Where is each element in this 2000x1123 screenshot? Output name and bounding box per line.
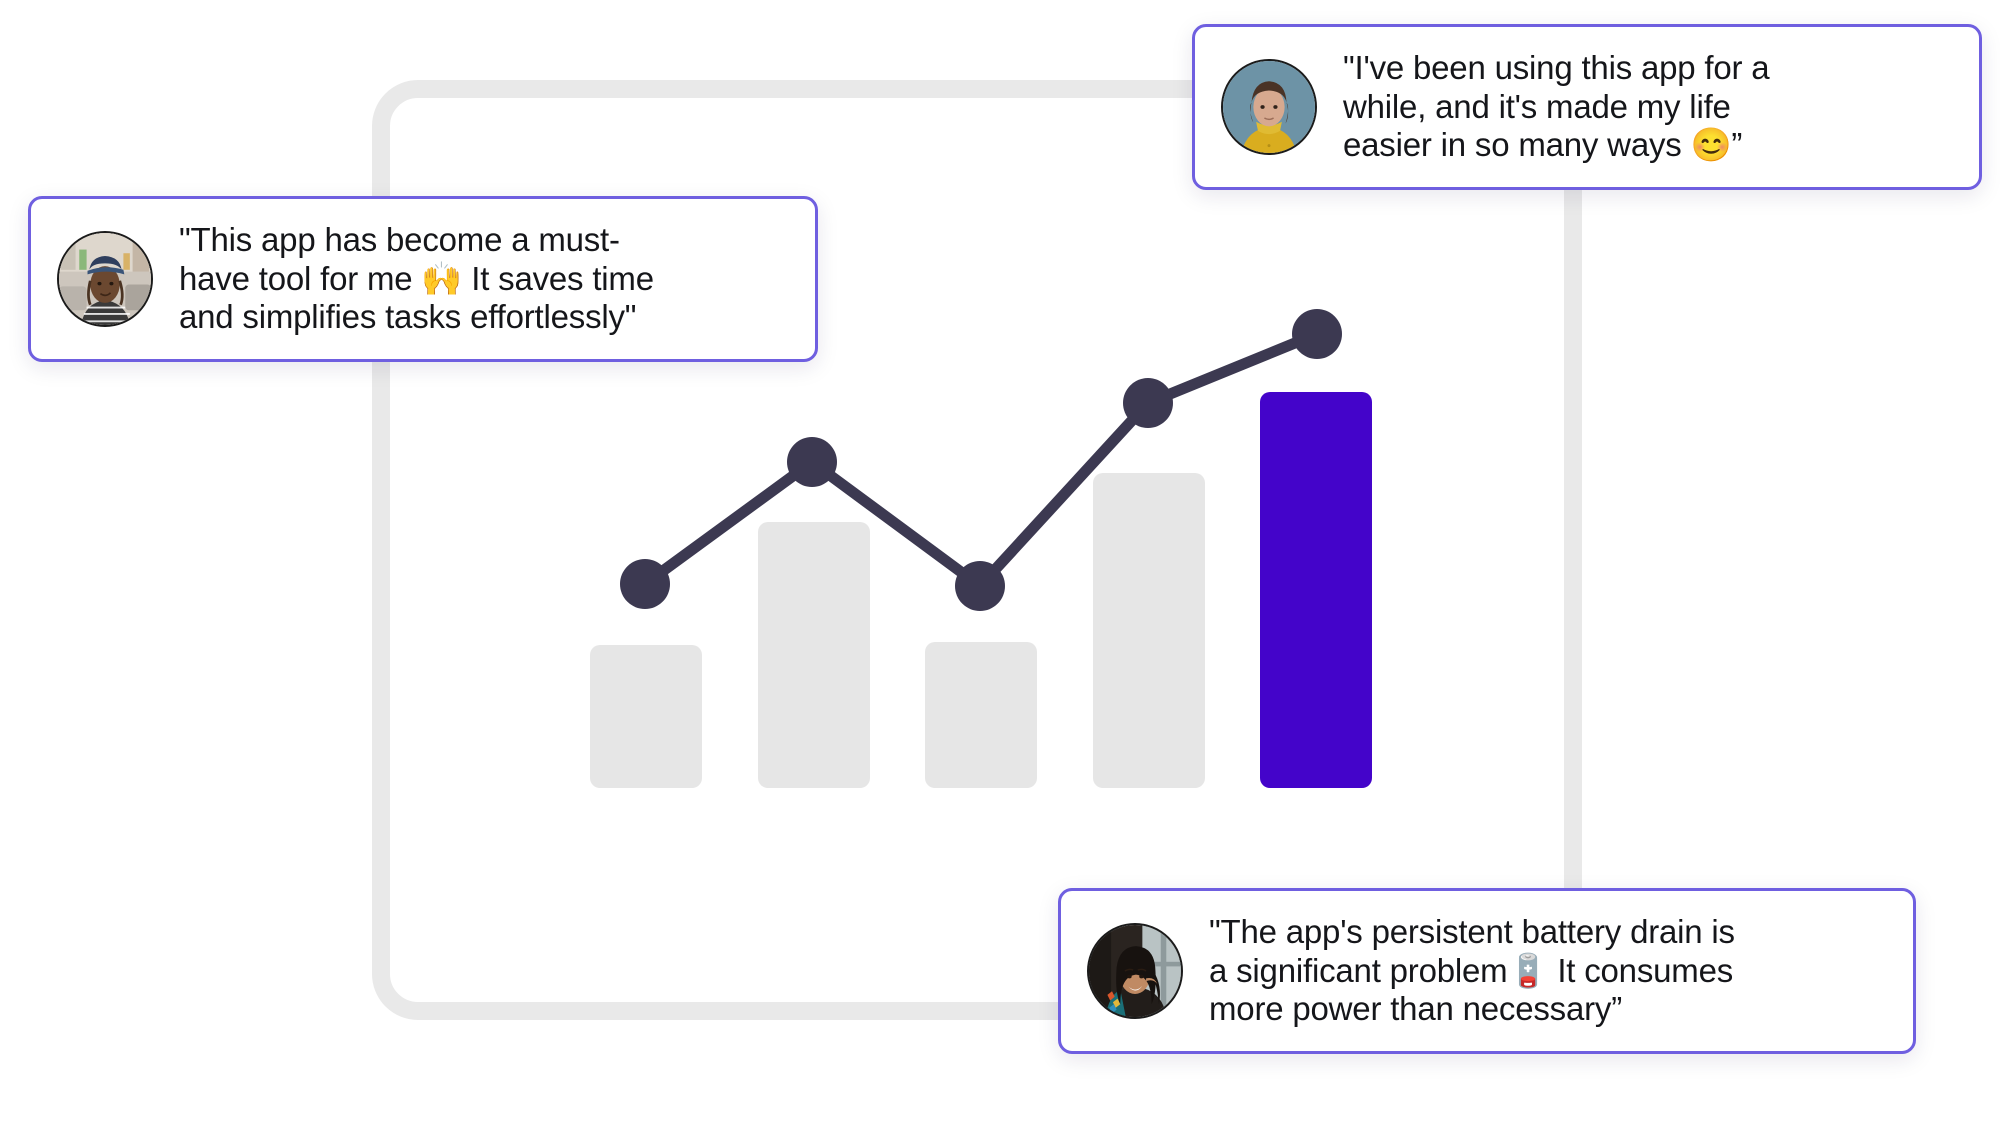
testimonial-quote-text: "This app has become a must- have tool f… [179,221,654,337]
testimonial-quote-text: "The app's persistent battery drain is a… [1209,913,1735,1029]
testimonial-quote-text: "I've been using this app for a while, a… [1343,49,1769,165]
avatar-woman-yellow-top [1221,59,1317,155]
avatar-woman-smiling-window [1087,923,1183,1019]
avatar-person-blue-cap [57,231,153,327]
testimonial-card-bottom-right[interactable]: "The app's persistent battery drain is a… [1058,888,1916,1054]
testimonial-card-top-right[interactable]: "I've been using this app for a while, a… [1192,24,1982,190]
testimonial-card-left[interactable]: "This app has become a must- have tool f… [28,196,818,362]
